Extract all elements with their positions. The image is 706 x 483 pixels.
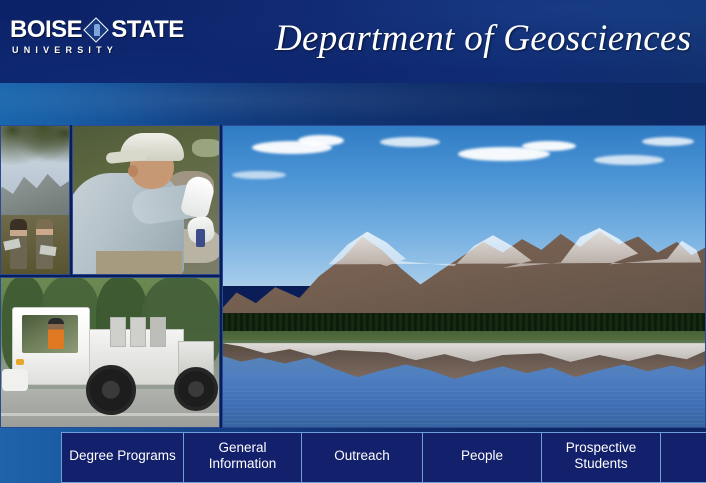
nav-tabs: Degree Programs General Information Outr…	[61, 432, 706, 483]
photo-collage	[0, 125, 706, 428]
vibroseis-truck-photo	[0, 277, 220, 428]
nav-label: Prospective Students	[548, 440, 654, 472]
researcher-sampling-photo	[72, 125, 220, 275]
nav-label: Degree Programs	[69, 448, 176, 464]
nav-general-information[interactable]: General Information	[183, 432, 301, 483]
sawtooth-mountains-lake-photo	[222, 125, 706, 428]
students-field-study-photo	[0, 125, 70, 275]
nav-label: Outreach	[334, 448, 390, 464]
nav-label: People	[461, 448, 503, 464]
logo-word-state: STATE	[111, 18, 184, 42]
bsu-diamond-icon	[84, 18, 109, 43]
nav-research-truncated[interactable]: Res	[660, 432, 706, 483]
nav-degree-programs[interactable]: Degree Programs	[61, 432, 183, 483]
nav-label: General Information	[190, 440, 295, 472]
nav-people[interactable]: People	[422, 432, 541, 483]
logo-wordmark: BOISE STATE	[10, 17, 150, 43]
masthead: BOISE STATE UNIVERSITY Department of Geo…	[0, 0, 706, 83]
page-title: Department of Geosciences	[275, 15, 695, 63]
header-gradient-band	[0, 83, 706, 125]
main-navigation-bar: Degree Programs General Information Outr…	[0, 428, 706, 483]
nav-prospective-students[interactable]: Prospective Students	[541, 432, 660, 483]
logo-word-boise: BOISE	[10, 18, 82, 42]
nav-outreach[interactable]: Outreach	[301, 432, 422, 483]
logo-subtitle-university: UNIVERSITY	[12, 43, 150, 57]
bsu-logo[interactable]: BOISE STATE UNIVERSITY	[10, 17, 150, 61]
page-root: BOISE STATE UNIVERSITY Department of Geo…	[0, 0, 706, 483]
